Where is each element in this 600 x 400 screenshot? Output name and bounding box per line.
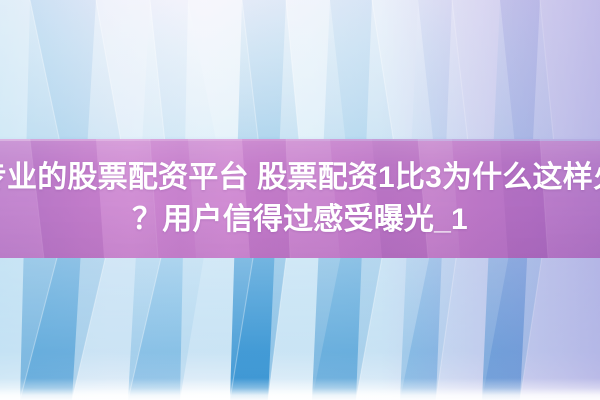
- headline-text: 专业的股票配资平台 股票配资1比3为什么这样火 ？用户信得过感受曝光_1: [0, 139, 600, 258]
- banner-image: 专业的股票配资平台 股票配资1比3为什么这样火 ？用户信得过感受曝光_1: [0, 0, 600, 400]
- bottom-fade-overlay: [0, 378, 600, 400]
- headline-line-2: ？用户信得过感受曝光_1: [132, 199, 468, 241]
- headline-line-1: 专业的股票配资平台 股票配资1比3为什么这样火: [0, 157, 600, 199]
